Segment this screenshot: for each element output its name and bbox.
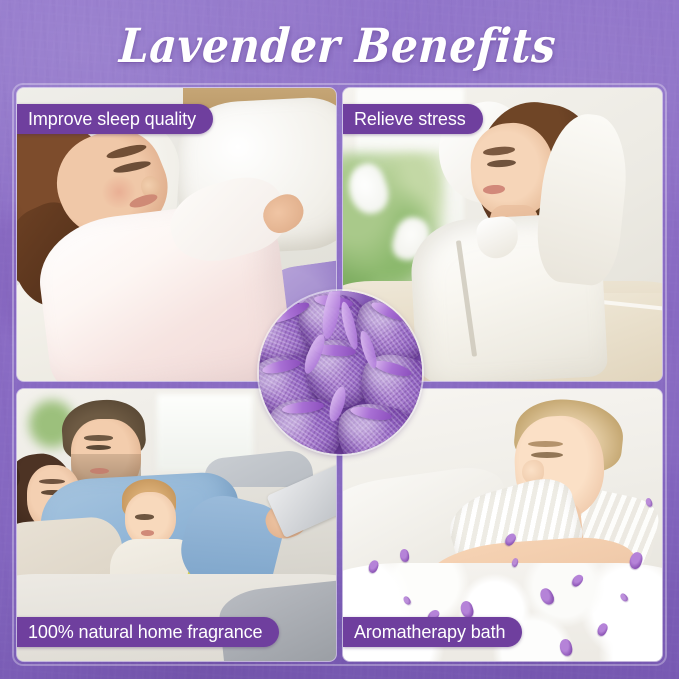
caption-aromatherapy-bath: Aromatherapy bath	[343, 617, 522, 647]
caption-natural-home-fragrance: 100% natural home fragrance	[17, 617, 279, 647]
poster: Lavender Benefits	[0, 0, 679, 679]
caption-improve-sleep-quality: Improve sleep quality	[17, 104, 213, 134]
page-title: Lavender Benefits	[0, 17, 679, 75]
lavender-sachets-circle	[259, 291, 422, 454]
caption-relieve-stress: Relieve stress	[343, 104, 483, 134]
